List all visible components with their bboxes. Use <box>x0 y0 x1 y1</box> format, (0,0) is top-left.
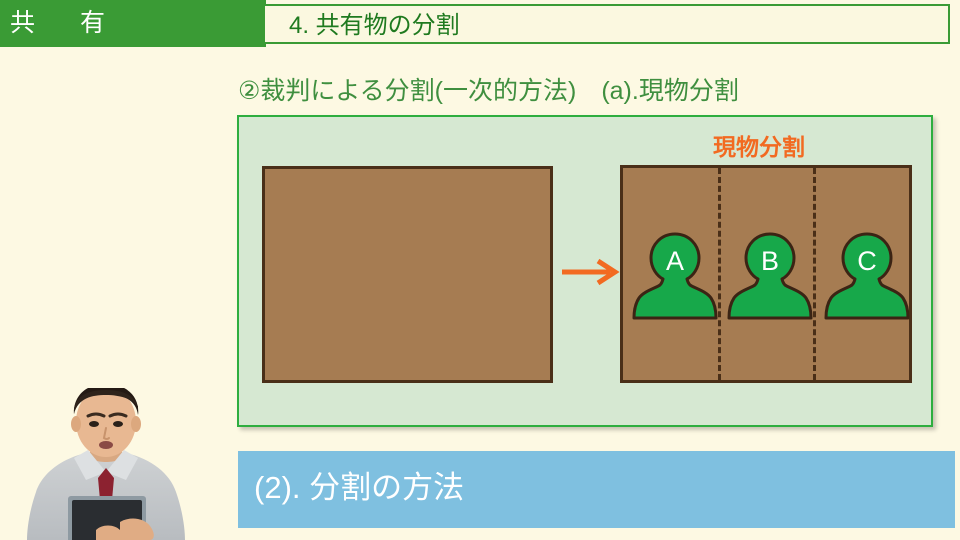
person-icon <box>727 228 813 322</box>
person-icon <box>824 228 910 322</box>
lot-owner-c: C <box>824 228 910 322</box>
header-section-label: 共 有 <box>10 8 115 39</box>
slide-title-box: 4. 共有物の分割 <box>263 4 950 44</box>
diagram-caption: 現物分割 <box>713 133 805 161</box>
lot-divider-line-2 <box>813 168 816 380</box>
header-section-bar: 共 有 <box>0 0 266 47</box>
lot-divider-line-1 <box>718 168 721 380</box>
bottom-banner: (2). 分割の方法 <box>238 451 955 528</box>
transform-arrow-icon <box>560 258 620 286</box>
lot-owner-a: A <box>632 228 718 322</box>
subtitle-text: ②裁判による分割(一次的方法) (a).現物分割 <box>238 74 739 108</box>
person-icon <box>632 228 718 322</box>
page-title: 4. 共有物の分割 <box>289 11 460 41</box>
land-whole-rectangle <box>262 166 553 383</box>
lot-owner-b: B <box>727 228 813 322</box>
slide-root: 共 有 4. 共有物の分割 ②裁判による分割(一次的方法) (a).現物分割 A… <box>0 0 960 540</box>
bottom-banner-label: (2). 分割の方法 <box>254 467 464 509</box>
presenter-video <box>16 388 196 540</box>
